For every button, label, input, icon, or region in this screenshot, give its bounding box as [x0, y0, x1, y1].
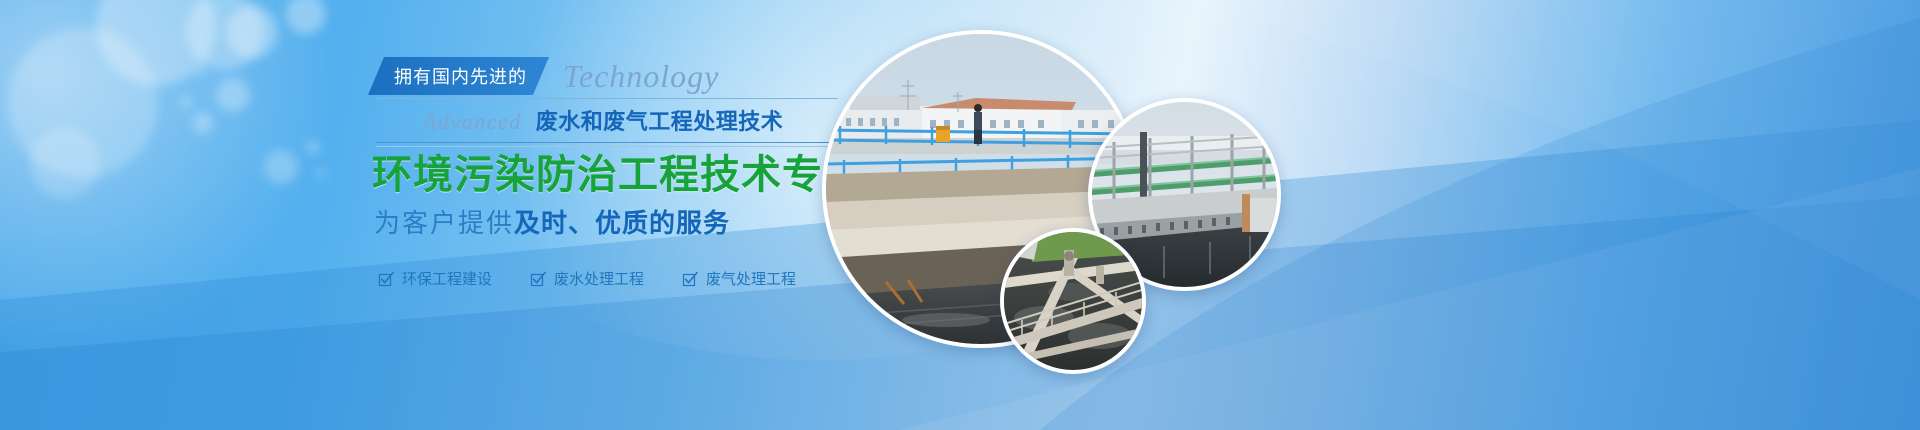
advanced-word: Advanced — [423, 109, 522, 135]
feature-item[interactable]: 环保工程建设 — [378, 268, 492, 289]
feature-item[interactable]: 废水处理工程 — [530, 268, 644, 289]
subtitle-row: Advanced 废水和废气工程处理技术 — [423, 104, 838, 136]
feature-label: 废气处理工程 — [706, 268, 796, 289]
feature-item[interactable]: 废气处理工程 — [682, 268, 796, 289]
feature-label: 环保工程建设 — [402, 268, 492, 289]
feature-list: 环保工程建设 废水处理工程 废气处理工程 — [378, 268, 838, 289]
check-icon — [530, 271, 546, 287]
tagline-prefix: 为客户提供 — [374, 208, 514, 238]
divider-bottom — [376, 142, 838, 147]
sedimentation-tank-photo — [1000, 228, 1146, 374]
worker-figure — [974, 104, 982, 144]
subtitle-cn: 废水和废气工程处理技术 — [536, 104, 784, 136]
page-title: 环境污染防治工程技术专业顾问 — [372, 153, 838, 197]
check-icon — [682, 271, 698, 287]
tag-chip: 拥有国内先进的 — [368, 57, 549, 95]
check-icon — [378, 271, 394, 287]
feature-label: 废水处理工程 — [554, 268, 644, 289]
technology-word: Technology — [563, 60, 719, 92]
tagline: 为客户提供及时、优质的服务 — [374, 203, 838, 240]
promo-banner: 拥有国内先进的 Technology Advanced 废水和废气工程处理技术 … — [0, 0, 1920, 430]
tag-row: 拥有国内先进的 Technology — [368, 56, 838, 96]
tagline-strong: 及时、优质的服务 — [514, 208, 730, 238]
divider-top — [376, 98, 838, 99]
banner-copy: 拥有国内先进的 Technology Advanced 废水和废气工程处理技术 … — [368, 56, 838, 289]
